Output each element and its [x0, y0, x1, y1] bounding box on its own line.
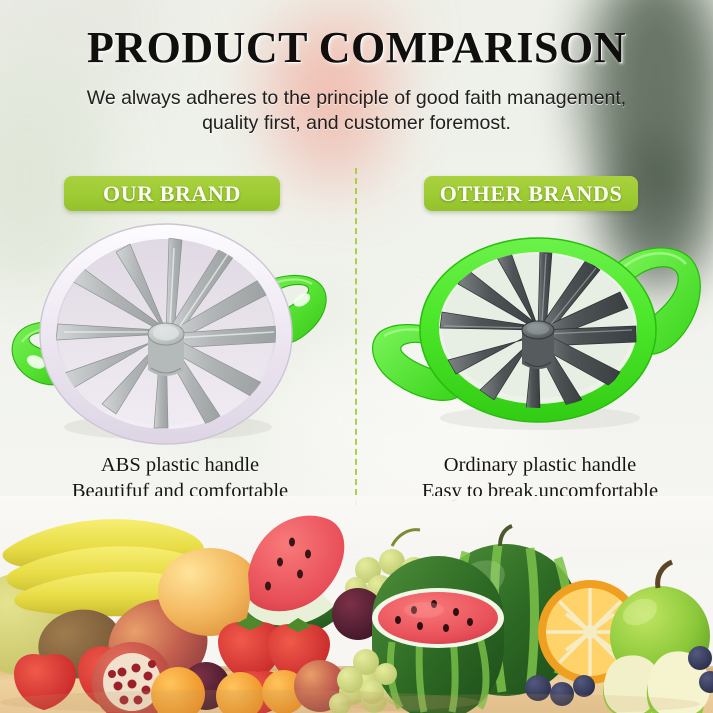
caption-left-line-1: ABS plastic handle: [101, 454, 259, 476]
fruit-assortment-photo: [0, 496, 713, 713]
product-image-other-brands: [370, 222, 706, 434]
caption-right-line-1: Ordinary plastic handle: [444, 454, 636, 476]
subtitle-line-1: We always adheres to the principle of go…: [87, 87, 626, 109]
fruit-watermelon-half: [372, 556, 504, 713]
product-image-our-brand: [6, 222, 336, 452]
badge-our-brand: OUR BRAND: [64, 176, 280, 211]
center-hub: [148, 323, 184, 376]
badge-other-brands: OTHER BRANDS: [424, 176, 638, 211]
page-subtitle: We always adheres to the principle of go…: [16, 86, 697, 136]
vertical-dashed-divider: [355, 168, 357, 505]
product-comparison-infographic: PRODUCT COMPARISON We always adheres to …: [0, 0, 713, 713]
page-title: PRODUCT COMPARISON: [0, 22, 713, 73]
center-hub: [522, 321, 554, 369]
subtitle-line-2: quality first, and customer foremost.: [202, 112, 511, 134]
